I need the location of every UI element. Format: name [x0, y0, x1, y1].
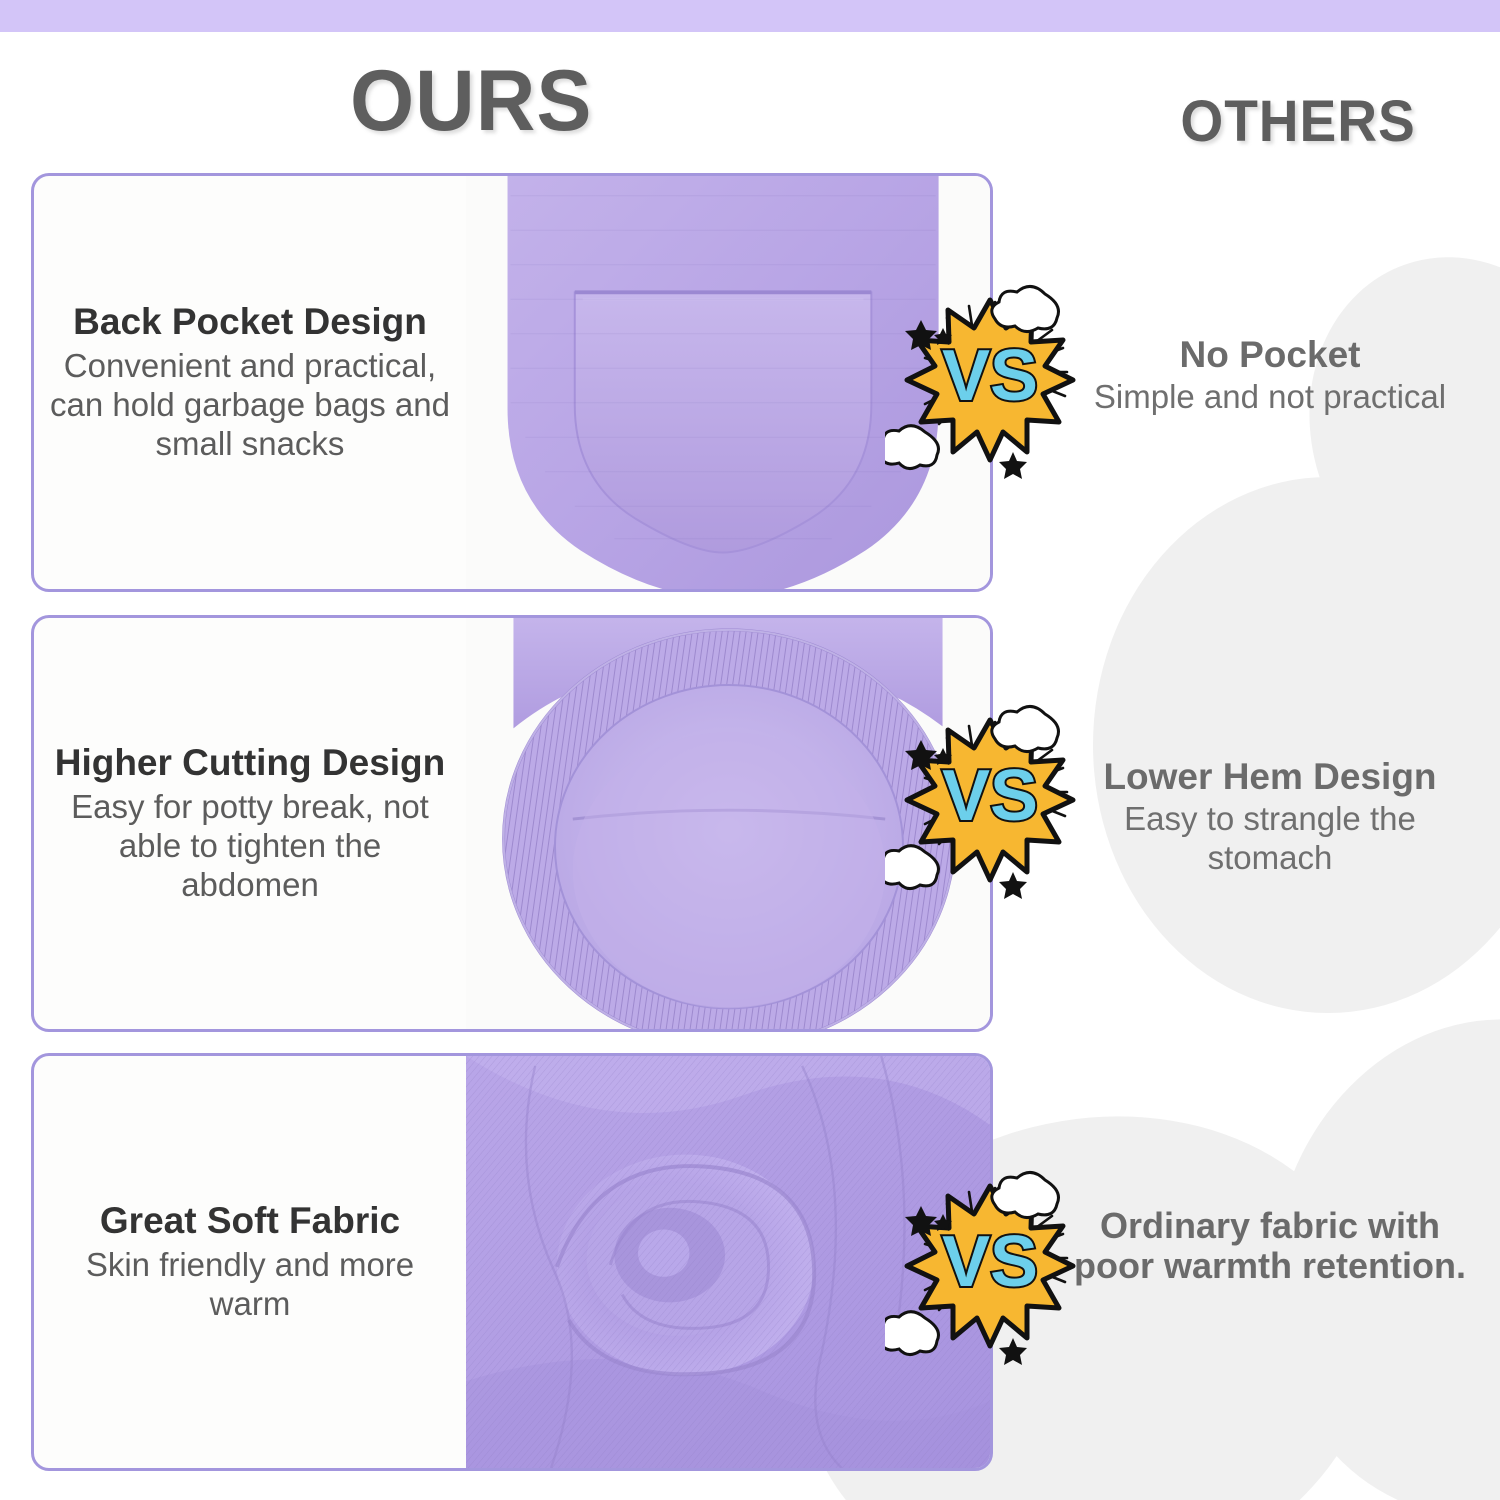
vs-label-row-2: VS: [942, 756, 1038, 836]
others-title-row-1: No Pocket: [1060, 334, 1480, 375]
others-block-row-3: Ordinary fabric with poor warmth retenti…: [1060, 1206, 1480, 1290]
ours-text-row-2: Higher Cutting Design Easy for potty bre…: [34, 618, 466, 1029]
ours-text-row-1: Back Pocket Design Convenient and practi…: [34, 176, 466, 589]
ours-desc-row-2: Easy for potty break, not able to tighte…: [48, 788, 452, 905]
others-desc-row-1: Simple and not practical: [1060, 378, 1480, 416]
comparison-card-row-2: Higher Cutting Design Easy for potty bre…: [31, 615, 993, 1032]
vs-label-row-1: VS: [942, 336, 1038, 416]
ours-title-row-2: Higher Cutting Design: [55, 742, 446, 783]
ours-desc-row-1: Convenient and practical, can hold garba…: [48, 347, 452, 464]
others-block-row-2: Lower Hem Design Easy to strangle the st…: [1060, 756, 1480, 877]
heading-ours: OURS: [350, 52, 592, 151]
comparison-card-row-1: Back Pocket Design Convenient and practi…: [31, 173, 993, 592]
comparison-infographic: OURS OTHERS Back Pocket Design Convenien…: [0, 0, 1500, 1500]
others-desc-row-2: Easy to strangle the stomach: [1060, 800, 1480, 877]
ours-title-row-3: Great Soft Fabric: [100, 1200, 400, 1241]
top-accent-bar: [0, 0, 1500, 32]
others-title-row-2: Lower Hem Design: [1060, 756, 1480, 797]
vs-label-row-3: VS: [942, 1222, 1038, 1302]
comparison-card-row-3: Great Soft Fabric Skin friendly and more…: [31, 1053, 993, 1471]
ours-title-row-1: Back Pocket Design: [73, 301, 427, 342]
ours-desc-row-3: Skin friendly and more warm: [48, 1246, 452, 1324]
vs-badge-row-1: VS: [885, 272, 1095, 482]
others-block-row-1: No Pocket Simple and not practical: [1060, 334, 1480, 417]
others-title-row-3: Ordinary fabric with poor warmth retenti…: [1060, 1206, 1480, 1287]
ours-text-row-3: Great Soft Fabric Skin friendly and more…: [34, 1056, 466, 1468]
vs-badge-row-3: VS: [885, 1158, 1095, 1368]
vs-badge-row-2: VS: [885, 692, 1095, 902]
heading-others: OTHERS: [1181, 88, 1416, 155]
